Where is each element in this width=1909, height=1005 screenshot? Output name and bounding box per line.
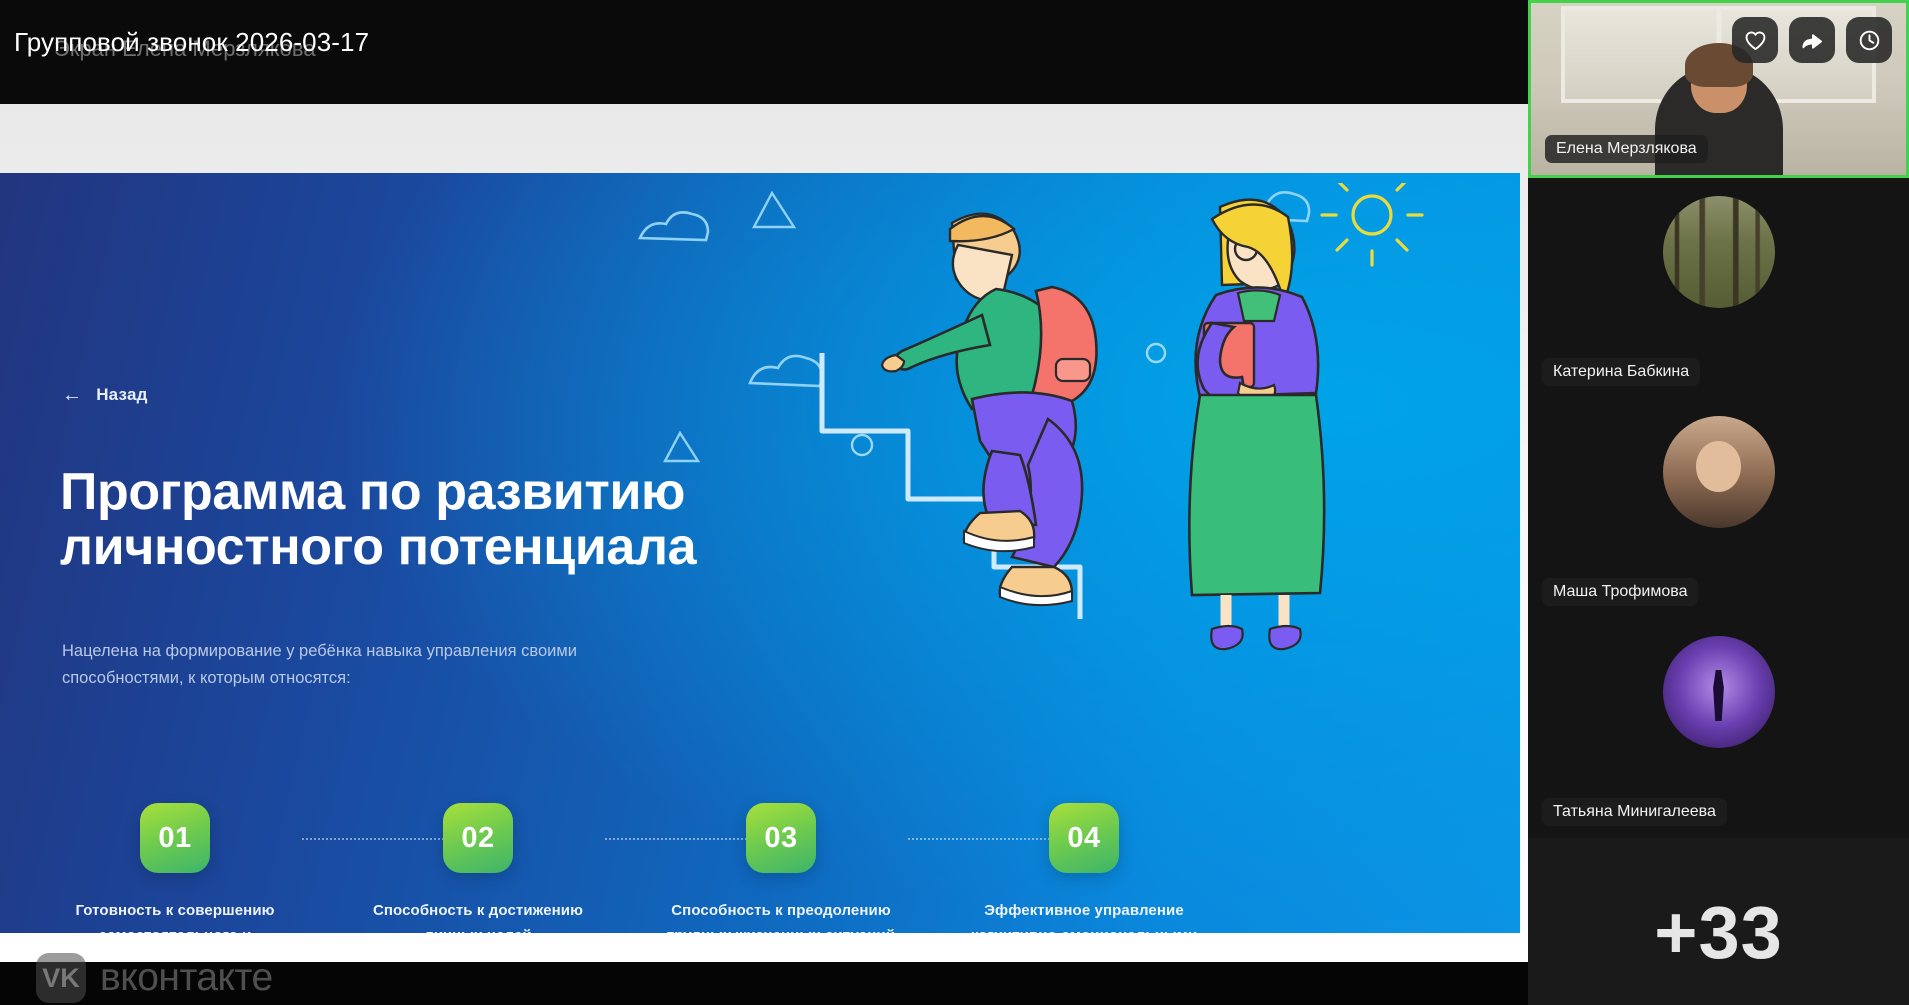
step-description: Способность к достижению личных целей <box>363 899 593 933</box>
participant-name: Катерина Бабкина <box>1542 358 1700 386</box>
vk-watermark: VK вконтакте <box>36 953 273 1003</box>
call-title: Групповой звонок 2026-03-17 <box>14 27 369 58</box>
slide-illustration <box>600 183 1520 743</box>
step-item: 03 Способность к преодолению трудных жиз… <box>666 803 896 933</box>
slide-title: Программа по развитию личностного потенц… <box>60 465 760 575</box>
screen-share-area: Экран Елена Мерзлякова Групповой звонок … <box>0 0 1528 1005</box>
participants-sidebar: Елена Мерзлякова Катерина Бабкина Маша Т… <box>1528 0 1909 1005</box>
steps-list: 01 Готовность к совершению самостоятельн… <box>60 803 1200 933</box>
step-number-badge: 02 <box>443 803 513 873</box>
call-header: Экран Елена Мерзлякова Групповой звонок … <box>0 0 1528 104</box>
clock-icon[interactable] <box>1846 17 1892 63</box>
overflow-count: +33 <box>1528 890 1909 975</box>
step-number-badge: 04 <box>1049 803 1119 873</box>
avatar <box>1663 636 1775 748</box>
step-description: Способность к преодолению трудных жизнен… <box>666 899 896 933</box>
step-number-badge: 01 <box>140 803 210 873</box>
step-number-badge: 03 <box>746 803 816 873</box>
participant-tile[interactable]: Катерина Бабкина <box>1528 178 1909 398</box>
participant-tile[interactable]: Маша Трофимова <box>1528 398 1909 618</box>
avatar <box>1663 196 1775 308</box>
step-description: Эффективное управление когнитивно-эмоцио… <box>969 899 1199 933</box>
participant-tile[interactable]: Татьяна Минигалеева <box>1528 618 1909 838</box>
step-item: 04 Эффективное управление когнитивно-эмо… <box>969 803 1199 933</box>
more-participants-tile[interactable]: +33 <box>1528 838 1909 1005</box>
heart-icon[interactable] <box>1732 17 1778 63</box>
step-item: 02 Способность к достижению личных целей <box>363 803 593 933</box>
participant-tile-self[interactable]: Елена Мерзлякова <box>1528 0 1909 178</box>
participant-name: Елена Мерзлякова <box>1545 135 1708 163</box>
vk-wordmark: вконтакте <box>100 956 273 1000</box>
step-item: 01 Готовность к совершению самостоятельн… <box>60 803 290 933</box>
back-button[interactable]: ← Назад <box>62 385 148 405</box>
participant-name: Маша Трофимова <box>1542 578 1698 606</box>
arrow-left-icon: ← <box>62 385 82 405</box>
video-controls <box>1732 17 1892 63</box>
video-call-window: Экран Елена Мерзлякова Групповой звонок … <box>0 0 1909 1005</box>
step-description: Готовность к совершению самостоятельного… <box>60 899 290 933</box>
back-button-label: Назад <box>96 385 147 405</box>
share-icon[interactable] <box>1789 17 1835 63</box>
avatar <box>1663 416 1775 528</box>
slide-subtitle: Нацелена на формирование у ребёнка навык… <box>62 638 662 691</box>
participant-name: Татьяна Минигалеева <box>1542 798 1727 826</box>
presentation-slide: ← Назад Программа по развитию личностног… <box>0 173 1520 933</box>
vk-logo-icon: VK <box>36 953 86 1003</box>
